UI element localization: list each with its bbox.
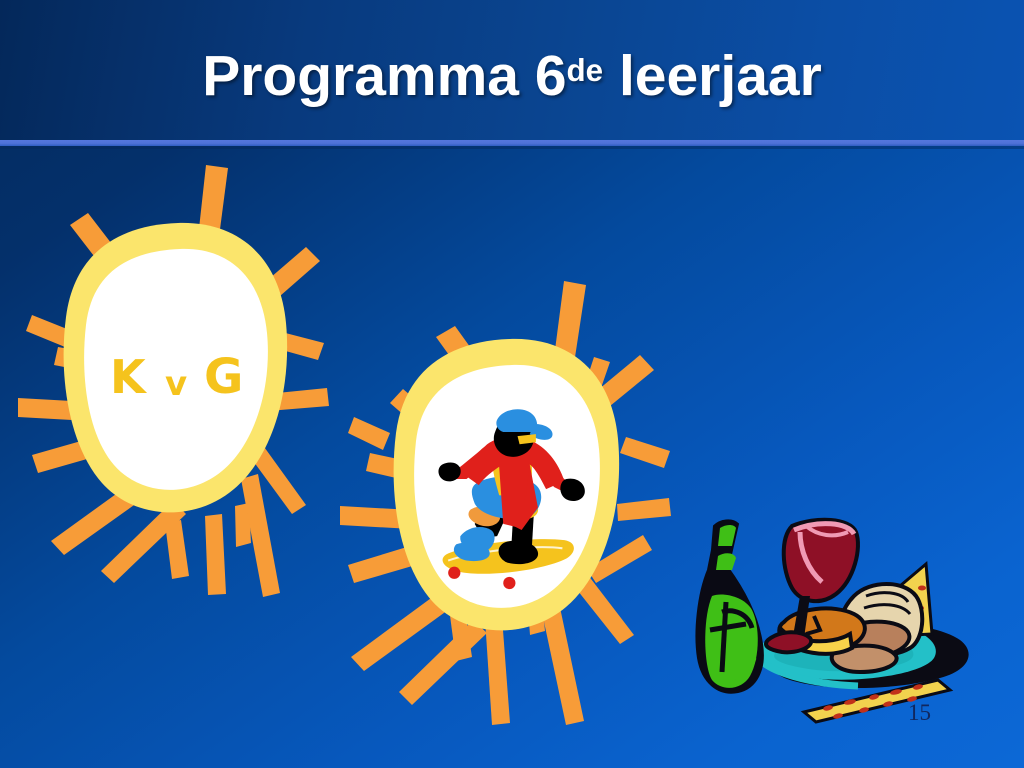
wine-bottle <box>696 520 762 692</box>
sun-label-kvg-v: v <box>165 364 187 404</box>
skateboard-wheel-front <box>503 577 515 589</box>
page-title-tail: leerjaar <box>603 44 822 108</box>
page-title-main: Programma 6 <box>202 44 566 108</box>
wine-cheese-bread-platter <box>688 512 978 727</box>
sun-label-kvg: K <box>110 350 148 404</box>
page-title-superscript: de <box>567 53 604 88</box>
title-divider-shadow <box>0 146 1024 149</box>
sun-label-kvg-g: G <box>204 349 243 405</box>
sun-burst-kvg: K v G <box>18 155 328 595</box>
page-number: 15 <box>908 700 931 726</box>
page-title: Programma 6de leerjaar <box>0 48 1024 105</box>
skateboard-wheel-rear <box>448 567 460 579</box>
sun-burst-skateboarder <box>340 275 670 725</box>
slide-canvas: Programma 6de leerjaar <box>0 0 1024 768</box>
